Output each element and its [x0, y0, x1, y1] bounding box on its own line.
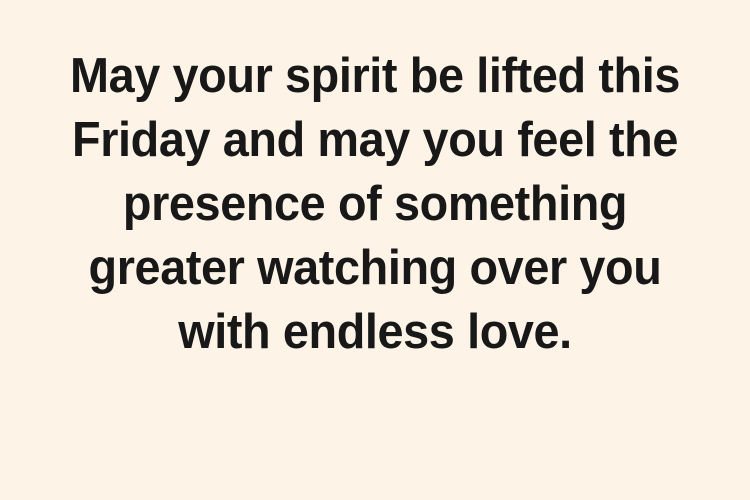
quote-line-5: with endless love.: [42, 300, 709, 364]
quote-text-block: May your spirit be lifted this Friday an…: [0, 0, 750, 364]
quote-card: May your spirit be lifted this Friday an…: [0, 0, 750, 500]
quote-line-2: Friday and may you feel the: [42, 108, 709, 172]
quote-line-1: May your spirit be lifted this: [42, 44, 709, 108]
quote-line-3: presence of something: [42, 172, 709, 236]
quote-line-4: greater watching over you: [42, 236, 709, 300]
